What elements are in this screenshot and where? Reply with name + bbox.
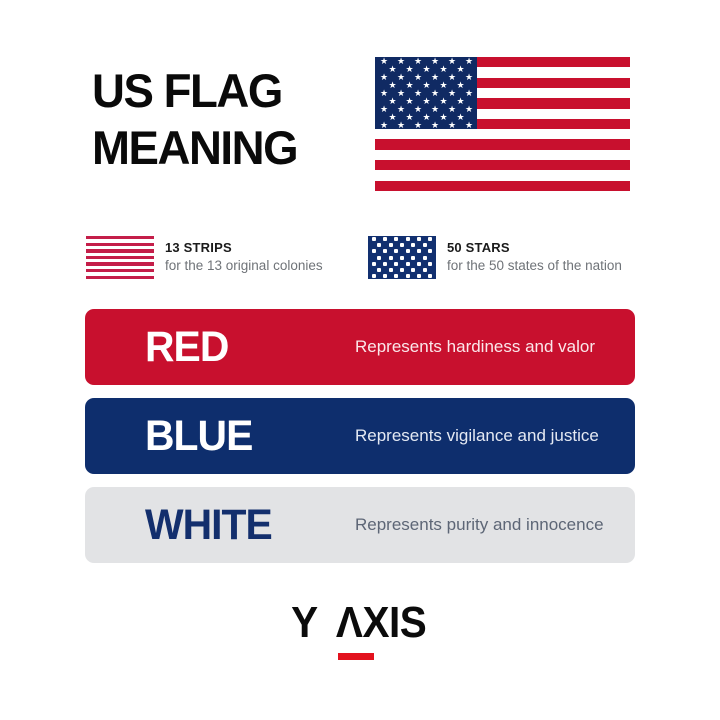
flag-star — [465, 74, 472, 81]
mini-star — [406, 262, 410, 266]
brand-logo-y: Y — [291, 598, 318, 648]
mini-star — [423, 256, 427, 260]
meaning-bar-white: WHITE Represents purity and innocence — [85, 487, 635, 563]
stat-heading-stars: 50 STARS — [447, 240, 622, 256]
flag-star — [431, 58, 438, 65]
us-flag-illustration — [375, 57, 630, 191]
flag-star — [440, 114, 447, 121]
mini-star — [423, 243, 427, 247]
flag-star — [440, 66, 447, 73]
mini-star — [417, 249, 421, 253]
mini-star — [428, 274, 432, 278]
flag-star — [431, 122, 438, 129]
stripes-icon — [86, 236, 154, 279]
flag-star — [457, 98, 464, 105]
flag-star — [397, 122, 404, 129]
mini-star — [383, 249, 387, 253]
stat-subtext-stars: for the 50 states of the nation — [447, 258, 622, 275]
flag-star — [397, 58, 404, 65]
mini-star — [406, 249, 410, 253]
page-title: US FLAG MEANING — [92, 62, 372, 176]
mini-star — [417, 274, 421, 278]
mini-star — [417, 262, 421, 266]
mini-star — [411, 243, 415, 247]
flag-star — [423, 114, 430, 121]
mini-star — [389, 268, 393, 272]
meaning-label-white: WHITE — [145, 501, 345, 550]
flag-star — [389, 66, 396, 73]
flag-star — [440, 98, 447, 105]
meaning-description-blue: Represents vigilance and justice — [355, 426, 599, 446]
flag-star — [423, 98, 430, 105]
mini-stripe — [86, 269, 154, 272]
mini-stripe — [86, 256, 154, 259]
flag-star — [406, 66, 413, 73]
flag-star — [380, 122, 387, 129]
infographic-poster: US FLAG MEANING 13 STRIPS for the 13 ori… — [0, 0, 720, 720]
mini-star — [423, 268, 427, 272]
flag-star — [448, 106, 455, 113]
meaning-bar-red: RED Represents hardiness and valor — [85, 309, 635, 385]
flag-star — [414, 58, 421, 65]
brand-logo-axis: ΛXIS — [336, 598, 426, 648]
flag-star — [406, 114, 413, 121]
mini-star — [372, 274, 376, 278]
mini-star — [389, 243, 393, 247]
mini-star — [394, 274, 398, 278]
stat-text-stripes: 13 STRIPS for the 13 original colonies — [165, 240, 323, 275]
mini-star — [372, 237, 376, 241]
mini-star — [411, 268, 415, 272]
flag-star — [389, 82, 396, 89]
stat-item-stripes: 13 STRIPS for the 13 original colonies — [86, 236, 323, 279]
mini-star — [406, 274, 410, 278]
mini-star — [383, 262, 387, 266]
flag-star — [440, 82, 447, 89]
flag-star — [389, 114, 396, 121]
flag-star — [431, 74, 438, 81]
flag-star — [465, 106, 472, 113]
brand-logo: Y ΛXIS — [0, 598, 720, 648]
mini-star — [377, 268, 381, 272]
title-line-2: MEANING — [92, 119, 364, 176]
flag-star — [457, 114, 464, 121]
flag-star — [406, 98, 413, 105]
flag-star — [406, 82, 413, 89]
mini-star — [372, 262, 376, 266]
flag-star — [414, 74, 421, 81]
flag-star — [414, 122, 421, 129]
mini-stripe — [86, 236, 154, 239]
flag-star — [423, 82, 430, 89]
flag-star — [380, 74, 387, 81]
meaning-label-blue: BLUE — [145, 412, 345, 461]
mini-star — [428, 262, 432, 266]
mini-star — [377, 256, 381, 260]
flag-star — [448, 58, 455, 65]
flag-star — [457, 66, 464, 73]
mini-star — [394, 262, 398, 266]
flag-star — [448, 90, 455, 97]
mini-star — [394, 249, 398, 253]
mini-star — [383, 237, 387, 241]
meaning-description-white: Represents purity and innocence — [355, 515, 604, 535]
flag-star — [457, 82, 464, 89]
flag-stripe — [375, 160, 630, 170]
flag-star — [448, 74, 455, 81]
mini-star — [389, 256, 393, 260]
flag-star — [431, 106, 438, 113]
stat-heading-stripes: 13 STRIPS — [165, 240, 323, 256]
mini-star — [428, 237, 432, 241]
flag-star — [414, 90, 421, 97]
stat-subtext-stripes: for the 13 original colonies — [165, 258, 323, 275]
flag-star — [431, 90, 438, 97]
mini-star — [400, 256, 404, 260]
flag-star — [397, 90, 404, 97]
flag-canton — [375, 57, 477, 129]
stat-text-stars: 50 STARS for the 50 states of the nation — [447, 240, 622, 275]
stat-item-stars: 50 STARS for the 50 states of the nation — [368, 236, 622, 279]
flag-star — [465, 90, 472, 97]
flag-star — [423, 66, 430, 73]
mini-star — [417, 237, 421, 241]
mini-star — [394, 237, 398, 241]
flag-star — [380, 106, 387, 113]
mini-star — [400, 268, 404, 272]
flag-star — [414, 106, 421, 113]
flag-stripe — [375, 181, 630, 191]
flag-stripe — [375, 139, 630, 149]
mini-star — [377, 243, 381, 247]
stars-icon — [368, 236, 436, 279]
flag-star — [465, 122, 472, 129]
mini-stripe — [86, 262, 154, 265]
flag-star — [465, 58, 472, 65]
meaning-description-red: Represents hardiness and valor — [355, 337, 595, 357]
meaning-label-red: RED — [145, 323, 345, 372]
flag-star — [397, 74, 404, 81]
mini-star — [411, 256, 415, 260]
brand-logo-underline — [338, 653, 374, 660]
brand-logo-text: Y ΛXIS — [290, 598, 430, 648]
title-line-1: US FLAG — [92, 62, 364, 119]
mini-star — [400, 243, 404, 247]
mini-stripe — [86, 276, 154, 279]
mini-star — [428, 249, 432, 253]
flag-star — [397, 106, 404, 113]
flag-star — [380, 90, 387, 97]
mini-stripe — [86, 249, 154, 252]
flag-star — [448, 122, 455, 129]
mini-star — [383, 274, 387, 278]
mini-star — [406, 237, 410, 241]
mini-stripe — [86, 243, 154, 246]
flag-star — [389, 98, 396, 105]
mini-star — [372, 249, 376, 253]
meaning-bar-blue: BLUE Represents vigilance and justice — [85, 398, 635, 474]
flag-star — [380, 58, 387, 65]
